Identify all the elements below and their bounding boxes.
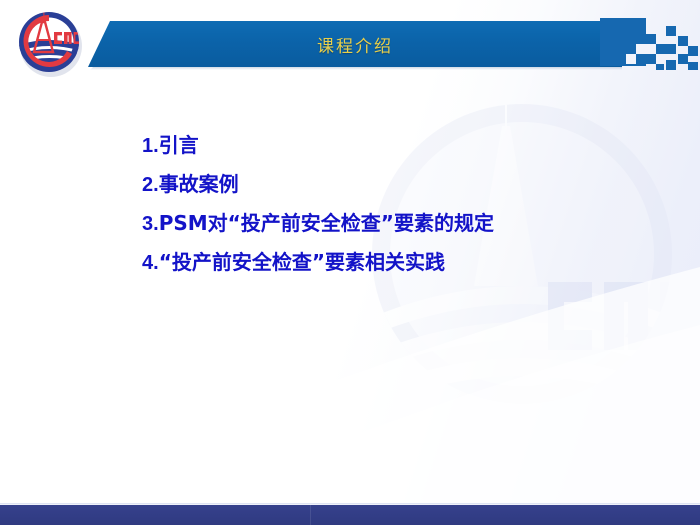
list-item-label: “投产前安全检查”要素相关实践 [159, 250, 445, 274]
list-item: 2.事故案例 [142, 165, 662, 204]
cnooc-logo [12, 6, 90, 80]
list-item-number: 2. [142, 174, 159, 196]
list-item-label: 引言 [159, 133, 199, 157]
bottom-bar [0, 505, 700, 525]
list-item: 4.“投产前安全检查”要素相关实践 [142, 243, 662, 282]
presentation-slide: 课程介绍 [0, 0, 700, 525]
slide-header: 课程介绍 [0, 0, 700, 92]
page-title: 课程介绍 [88, 21, 622, 67]
list-item-number: 4. [142, 252, 159, 274]
list-item-label: PSM对“投产前安全检查”要素的规定 [159, 211, 494, 235]
bottom-bar-seam [310, 505, 311, 525]
agenda-list: 1.引言 2.事故案例 3.PSM对“投产前安全检查”要素的规定 4.“投产前安… [142, 126, 662, 282]
list-item: 3.PSM对“投产前安全检查”要素的规定 [142, 204, 662, 243]
list-item: 1.引言 [142, 126, 662, 165]
list-item-number: 3. [142, 213, 159, 235]
list-item-number: 1. [142, 135, 159, 157]
list-item-label: 事故案例 [159, 172, 239, 196]
pixel-mosaic-decoration [600, 18, 700, 72]
